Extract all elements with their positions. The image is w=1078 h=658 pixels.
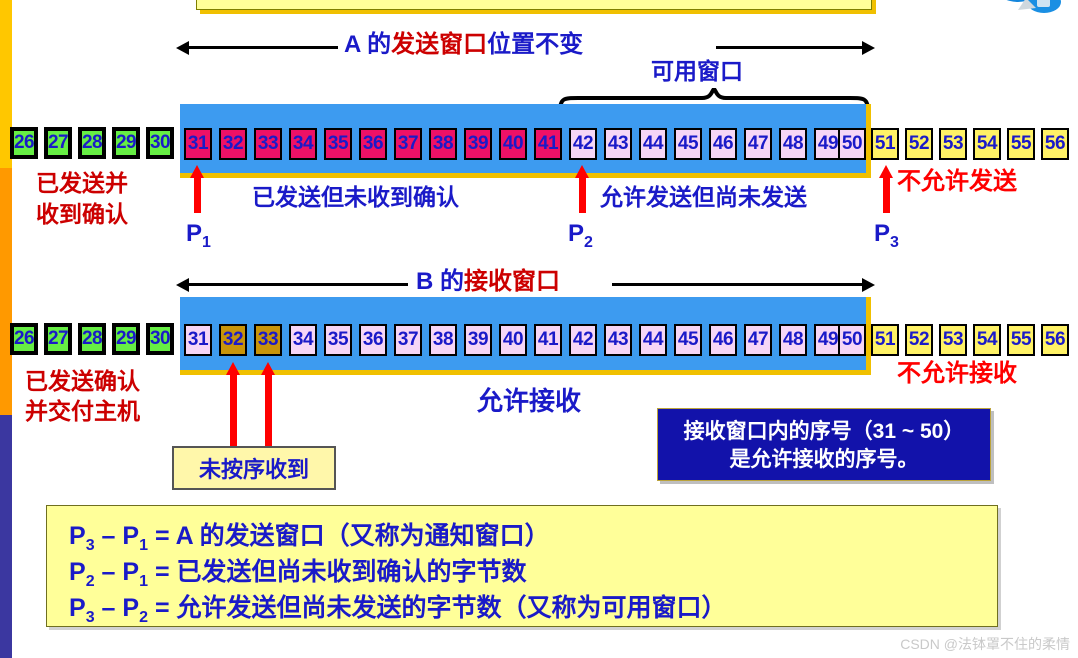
formula-row-3: P3 – P2 = 允许发送但尚未发送的字节数（又称为可用窗口）	[69, 596, 727, 626]
receiver-window-band-underline	[180, 370, 871, 375]
sender-title-suffix: 位置不变	[487, 31, 583, 58]
pointer-arrow-p3	[879, 165, 894, 213]
formula-1-rhs: A 的发送窗口（又称为通知窗口）	[176, 522, 550, 550]
formula-3-lhs-a-sub: 3	[86, 609, 95, 626]
receiver-cell-31[interactable]: 31	[184, 324, 212, 356]
sender-cell-28[interactable]: 28	[78, 127, 106, 159]
formula-1-lhs-a: P	[69, 522, 86, 550]
formula-3-lhs-b: P	[122, 594, 139, 622]
sender-cell-47[interactable]: 47	[744, 128, 772, 160]
receiver-cell-40[interactable]: 40	[499, 324, 527, 356]
receiver-title-arrowhead-left	[176, 278, 189, 292]
receiver-cell-47[interactable]: 47	[744, 324, 772, 356]
sender-cell-36[interactable]: 36	[359, 128, 387, 160]
receiver-title-line-right	[612, 283, 864, 286]
formula-3-lhs-a: P	[69, 594, 86, 622]
top-cropped-callout	[196, 0, 872, 10]
sender-cell-42[interactable]: 42	[569, 128, 597, 160]
out-of-order-note-box: 未按序收到	[172, 446, 336, 490]
sender-title-arrowhead-right	[862, 41, 875, 55]
sender-cell-33[interactable]: 33	[254, 128, 282, 160]
receiver-cell-27[interactable]: 27	[44, 323, 72, 355]
pointer-label-p3-sub: 3	[890, 234, 899, 251]
pointer-label-p1-text: P	[186, 220, 202, 247]
sender-cell-41[interactable]: 41	[534, 128, 562, 160]
receiver-cell-34[interactable]: 34	[289, 324, 317, 356]
receiver-cell-29[interactable]: 29	[112, 323, 140, 355]
receiver-cell-30[interactable]: 30	[146, 323, 174, 355]
formula-1-lhs-b: P	[122, 522, 139, 550]
sender-cell-29[interactable]: 29	[112, 127, 140, 159]
receiver-title-line-left	[188, 283, 408, 286]
sender-window-band-underline	[180, 173, 871, 178]
formula-1-lhs-a-sub: 3	[86, 537, 95, 554]
sender-cell-45[interactable]: 45	[674, 128, 702, 160]
formula-2-lhs-b: P	[122, 558, 139, 586]
sender-cell-38[interactable]: 38	[429, 128, 457, 160]
receiver-cell-50[interactable]: 50	[838, 324, 866, 356]
sender-cell-39[interactable]: 39	[464, 128, 492, 160]
formula-2-op: –	[102, 558, 116, 586]
receiver-delivered-label-line1: 已发送确认	[25, 370, 140, 393]
receiver-title-arrowhead-right	[862, 278, 875, 292]
sender-cell-48[interactable]: 48	[779, 128, 807, 160]
sender-window-title: A 的发送窗口位置不变	[344, 33, 583, 57]
pointer-arrow-p2	[575, 165, 590, 213]
receiver-cell-38[interactable]: 38	[429, 324, 457, 356]
receiver-delivered-label-line2: 并交付主机	[25, 400, 140, 423]
pointer-label-p3-text: P	[874, 220, 890, 247]
available-window-label: 可用窗口	[651, 60, 743, 83]
sender-cell-35[interactable]: 35	[324, 128, 352, 160]
formula-3-op: –	[102, 594, 116, 622]
pointer-arrow-out-of-order-32	[226, 362, 241, 448]
formula-1-eq: =	[155, 522, 170, 550]
decorative-cluster-icon	[966, 0, 1078, 30]
receiver-cell-28[interactable]: 28	[78, 323, 106, 355]
slide-canvas: A 的发送窗口位置不变 可用窗口 26 27 28 29 30 31 32 33…	[0, 0, 1078, 658]
sender-cell-56[interactable]: 56	[1041, 128, 1069, 160]
receiver-cell-33[interactable]: 33	[254, 324, 282, 356]
receiver-title-prefix: B 的	[416, 268, 464, 295]
sender-acked-label-line1: 已发送并	[36, 172, 128, 195]
pointer-label-p2-sub: 2	[584, 234, 593, 251]
receiver-window-info-box: 接收窗口内的序号（31 ~ 50） 是允许接收的序号。	[657, 408, 991, 481]
receiver-cell-39[interactable]: 39	[464, 324, 492, 356]
receiver-cell-43[interactable]: 43	[604, 324, 632, 356]
receiver-cell-44[interactable]: 44	[639, 324, 667, 356]
info-box-line1: 接收窗口内的序号（31 ~ 50）	[658, 418, 990, 446]
sender-cell-55[interactable]: 55	[1007, 128, 1035, 160]
sender-cell-31[interactable]: 31	[184, 128, 212, 160]
sender-cell-32[interactable]: 32	[219, 128, 247, 160]
receiver-cell-36[interactable]: 36	[359, 324, 387, 356]
sender-cell-34[interactable]: 34	[289, 128, 317, 160]
formula-3-rhs: 允许发送但尚未发送的字节数（又称为可用窗口）	[177, 594, 727, 622]
formula-1-op: –	[102, 522, 116, 550]
formula-row-1: P3 – P1 = A 的发送窗口（又称为通知窗口）	[69, 524, 550, 554]
sender-cell-46[interactable]: 46	[709, 128, 737, 160]
info-box-line2: 是允许接收的序号。	[658, 446, 990, 474]
receiver-cell-35[interactable]: 35	[324, 324, 352, 356]
formula-row-2: P2 – P1 = 已发送但尚未收到确认的字节数	[69, 560, 527, 590]
receiver-window-title: B 的接收窗口	[416, 270, 560, 294]
receiver-cell-55[interactable]: 55	[1007, 324, 1035, 356]
sender-cell-44[interactable]: 44	[639, 128, 667, 160]
formula-2-lhs-a: P	[69, 558, 86, 586]
pointer-label-p2: P2	[568, 222, 593, 251]
pointer-label-p2-text: P	[568, 220, 584, 247]
sender-cell-52[interactable]: 52	[905, 128, 933, 160]
receiver-not-allowed-label: 不允许接收	[897, 362, 1017, 386]
formula-1-lhs-b-sub: 1	[139, 537, 148, 554]
sender-title-highlight: 发送窗口	[391, 31, 487, 58]
receiver-cell-56[interactable]: 56	[1041, 324, 1069, 356]
sender-title-line-left	[188, 46, 338, 49]
sender-cell-30[interactable]: 30	[146, 127, 174, 159]
receiver-cell-26[interactable]: 26	[10, 323, 38, 355]
sender-cell-50[interactable]: 50	[838, 128, 866, 160]
receiver-cell-52[interactable]: 52	[905, 324, 933, 356]
watermark-text: CSDN @法钵罩不住的柔情	[900, 634, 1070, 654]
sender-title-line-right	[716, 46, 864, 49]
sender-cell-54[interactable]: 54	[973, 128, 1001, 160]
spine-segment-orange	[0, 168, 12, 415]
receiver-title-highlight: 接收窗口	[464, 268, 560, 295]
receiver-cell-48[interactable]: 48	[779, 324, 807, 356]
sender-not-allowed-label: 不允许发送	[897, 170, 1017, 194]
pointer-arrow-out-of-order-33	[261, 362, 276, 448]
receiver-cell-46[interactable]: 46	[709, 324, 737, 356]
sender-cell-40[interactable]: 40	[499, 128, 527, 160]
sender-usable-label: 允许发送但尚未发送	[600, 186, 807, 209]
sender-cell-43[interactable]: 43	[604, 128, 632, 160]
spine-segment-blue	[0, 415, 12, 658]
receiver-cell-53[interactable]: 53	[939, 324, 967, 356]
sender-sent-unacked-label: 已发送但未收到确认	[252, 186, 459, 209]
receiver-cell-41[interactable]: 41	[534, 324, 562, 356]
pointer-label-p1: P1	[186, 222, 211, 251]
pointer-label-p3: P3	[874, 222, 899, 251]
sender-title-arrowhead-left	[176, 41, 189, 55]
receiver-allow-label: 允许接收	[477, 388, 581, 414]
sender-acked-label-line2: 收到确认	[36, 203, 128, 226]
formula-3-lhs-b-sub: 2	[139, 609, 148, 626]
sender-cell-26[interactable]: 26	[10, 127, 38, 159]
pointer-label-p1-sub: 1	[202, 234, 211, 251]
receiver-cell-54[interactable]: 54	[973, 324, 1001, 356]
formula-summary-box: P3 – P1 = A 的发送窗口（又称为通知窗口） P2 – P1 = 已发送…	[46, 505, 998, 627]
formula-2-rhs: 已发送但尚未收到确认的字节数	[177, 558, 527, 586]
receiver-cell-45[interactable]: 45	[674, 324, 702, 356]
receiver-cell-37[interactable]: 37	[394, 324, 422, 356]
sender-cell-37[interactable]: 37	[394, 128, 422, 160]
formula-2-lhs-a-sub: 2	[86, 573, 95, 590]
sender-cell-51[interactable]: 51	[871, 128, 899, 160]
sender-cell-53[interactable]: 53	[939, 128, 967, 160]
receiver-cell-42[interactable]: 42	[569, 324, 597, 356]
receiver-cell-32[interactable]: 32	[219, 324, 247, 356]
formula-3-eq: =	[155, 594, 170, 622]
sender-title-prefix: A 的	[344, 31, 391, 58]
formula-2-lhs-b-sub: 1	[139, 573, 148, 590]
sender-cell-27[interactable]: 27	[44, 127, 72, 159]
pointer-arrow-p1	[190, 165, 205, 213]
formula-2-eq: =	[155, 558, 170, 586]
receiver-cell-51[interactable]: 51	[871, 324, 899, 356]
